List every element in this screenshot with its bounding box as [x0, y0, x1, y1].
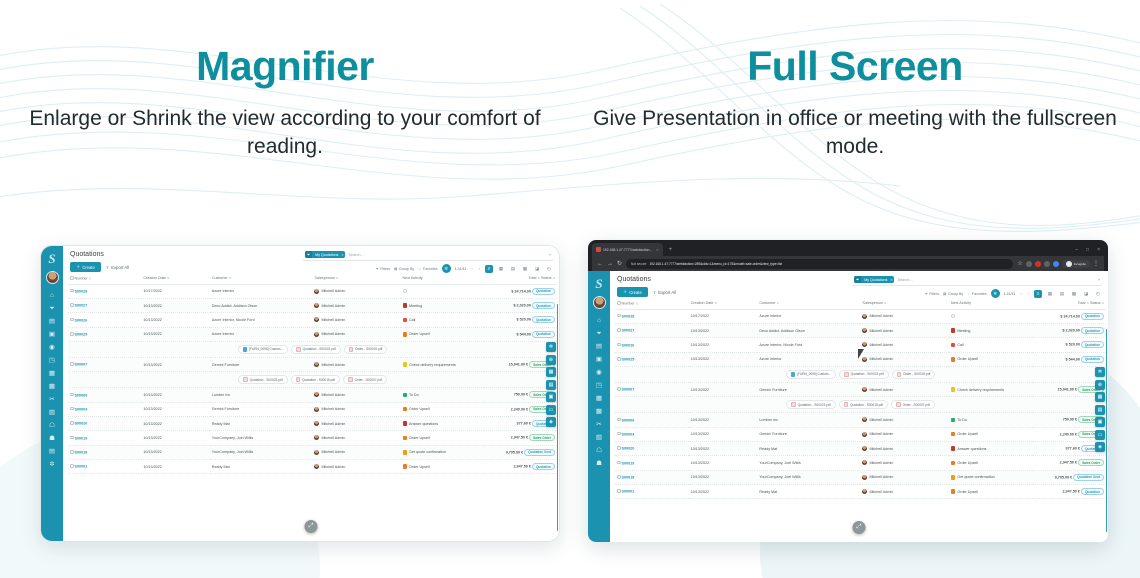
cell-salesperson: Mitchell Admin — [860, 323, 948, 337]
table-row[interactable]: S0002710/13/2022Deco Addict, Addison Ols… — [68, 298, 557, 312]
attachment-chip[interactable]: [FURN_0096] Custom... — [238, 345, 289, 354]
table-row[interactable]: S0002810/17/2022Azure InteriorMitchell A… — [68, 284, 557, 298]
avatar — [862, 342, 867, 347]
pdf-file-icon — [844, 402, 849, 407]
record-number[interactable]: S00007 — [622, 388, 635, 392]
cell-number[interactable]: S00026 — [68, 313, 141, 327]
search-facet[interactable]: ⏷ My Quotations × — [854, 276, 894, 283]
next-activity-label: Order Upsell — [957, 357, 978, 361]
cell-next-activity[interactable]: Answer questions — [949, 441, 1032, 455]
attachment-chip[interactable]: [FURN_0096] Custom... — [786, 370, 837, 379]
list-view-icon[interactable]: ≡ — [1034, 290, 1042, 298]
status-badge: Sales Order — [529, 434, 555, 441]
search-input[interactable]: Search... — [897, 278, 1095, 282]
sidebar-item-building[interactable]: ▤ — [48, 447, 57, 456]
sidebar-item-target[interactable]: ◉ — [48, 343, 57, 352]
cell-total-status: $ 520.00 Quotation — [1032, 338, 1106, 352]
next-activity-label: Order Upsell — [409, 465, 430, 469]
row-checkbox[interactable] — [617, 446, 621, 450]
col-number[interactable]: Number ⇅ — [615, 298, 689, 309]
vertical-scrollbar[interactable] — [1106, 329, 1108, 532]
cell-number[interactable]: S00025 — [68, 327, 141, 341]
cell-number[interactable]: S00006 — [615, 413, 689, 427]
table-row[interactable]: S0001910/13/2022YourCompany, Joel Willis… — [615, 456, 1106, 470]
attachment-chip[interactable]: Order - S00015.pdf — [892, 370, 936, 379]
row-checkbox[interactable] — [70, 362, 74, 366]
cell-customer: Deco Addict, Addison Olson — [210, 298, 313, 312]
next-activity: Order Upsell — [403, 436, 482, 441]
magnifier-plus-icon[interactable]: ⊕ — [546, 355, 556, 365]
table-row[interactable]: S0000610/13/2022Lumber IncMitchell Admin… — [68, 388, 557, 402]
quotations-list[interactable]: Number ⇅ Creation Date ⇅ Customer ⇅ Sale… — [610, 298, 1108, 542]
row-checkbox[interactable] — [617, 418, 621, 422]
upsell-icon — [951, 489, 956, 494]
cell-creation-date: 10/13/2022 — [141, 445, 209, 459]
cell-number[interactable]: S00002 — [615, 485, 689, 499]
table-row[interactable]: S0000210/13/2022Ready MatMitchell AdminO… — [615, 485, 1106, 499]
back-icon[interactable]: ← — [597, 261, 603, 267]
new-tab-button[interactable]: + — [666, 247, 676, 253]
create-button-label: Create — [82, 265, 95, 270]
table-row[interactable]: S0001910/13/2022YourCompany, Joel Willis… — [68, 431, 557, 445]
image-icon[interactable]: ▣ — [546, 392, 556, 402]
attachment-chip[interactable]: Order - S00015.pdf — [344, 345, 388, 354]
cell-salesperson: Mitchell Admin — [312, 327, 400, 341]
cell-next-activity[interactable]: Order Upsell — [949, 456, 1032, 470]
layers-icon: ▤ — [394, 267, 397, 271]
favorites-dropdown[interactable]: ☆ Favorites — [967, 292, 987, 296]
sort-icon: ⇅ — [884, 301, 887, 305]
filter-icon: ⏷ — [376, 267, 379, 271]
cell-creation-date: 10/13/2022 — [141, 460, 209, 474]
cell-next-activity[interactable]: Order Upsell — [401, 431, 484, 445]
cell-number[interactable]: S00020 — [615, 441, 689, 455]
cell-salesperson: Mitchell Admin — [860, 441, 948, 455]
favorites-dropdown[interactable]: ☆ Favorites — [418, 267, 438, 271]
facet-remove-icon[interactable]: × — [341, 252, 345, 258]
settings-icon[interactable]: ✲ — [546, 342, 556, 352]
browser-window: 192.168.1.47:7777/web#action... × + – □ … — [588, 240, 1108, 542]
col-salesperson[interactable]: Salesperson ⇅ — [860, 298, 948, 309]
col-creation-date[interactable]: Creation Date ⇅ — [689, 298, 758, 309]
col-next-activity[interactable]: Next Activity — [401, 273, 484, 284]
cell-number[interactable]: S00025 — [615, 352, 689, 366]
activity-view-icon[interactable]: ◴ — [545, 265, 553, 273]
sidebar-item-chart[interactable]: ◳ — [48, 356, 57, 365]
record-number[interactable]: S00018 — [75, 451, 88, 455]
graph-view-icon[interactable]: ◪ — [1082, 290, 1090, 298]
sidebar-item-user[interactable]: ☖ — [48, 421, 57, 430]
quotations-list[interactable]: Number ⇅ Creation Date ⇅ Customer ⇅ Sale… — [63, 273, 559, 541]
plus-icon: ＋ — [623, 289, 627, 295]
table-row[interactable]: S0001810/13/2022YourCompany, Joel Willis… — [68, 445, 557, 459]
row-checkbox[interactable] — [70, 421, 74, 425]
next-activity-label: Meeting — [409, 304, 422, 308]
record-number[interactable]: S00020 — [622, 447, 635, 451]
vertical-scrollbar[interactable] — [557, 304, 559, 531]
next-activity: Order Upsell — [951, 357, 1030, 362]
export-all-button[interactable]: ⇪ Export All — [106, 265, 129, 270]
cell-number[interactable]: S00004 — [615, 427, 689, 441]
printer-icon[interactable]: ▤ — [546, 380, 556, 390]
attachment-chip[interactable]: Order - S00007.pdf — [891, 400, 935, 409]
table-row[interactable]: S0000610/13/2022Lumber IncMitchell Admin… — [615, 413, 1106, 427]
chevron-down-icon[interactable]: ▾ — [1098, 277, 1100, 282]
cell-next-activity[interactable]: To Do — [401, 388, 484, 402]
reload-icon[interactable]: ↻ — [617, 261, 622, 267]
sidebar-item-target[interactable]: ◉ — [595, 368, 604, 377]
table-row[interactable]: S0001810/13/2022YourCompany, Joel Willis… — [615, 470, 1106, 484]
printer-icon[interactable]: ▤ — [1095, 405, 1105, 415]
cell-customer: Azure Interior — [210, 327, 313, 341]
attachment-chip[interactable]: Quotation - S00023.pdf — [839, 370, 888, 379]
record-number[interactable]: S00025 — [622, 358, 635, 362]
cell-next-activity[interactable]: Meeting — [949, 323, 1032, 337]
app-main-right: Quotations ＋ Create ⇪ Export All — [610, 271, 1108, 542]
cell-number[interactable]: S00002 — [68, 460, 141, 474]
row-checkbox[interactable] — [617, 489, 621, 493]
create-button[interactable]: ＋ Create — [70, 262, 101, 272]
next-activity-label: Order Upsell — [409, 436, 430, 440]
table-row[interactable]: S0002810/17/2022Azure InteriorMitchell A… — [615, 309, 1106, 323]
col-total-status[interactable]: Total ⇅ Status ⇅ — [484, 273, 557, 284]
user-avatar[interactable] — [593, 296, 606, 309]
next-activity-label: Order Upsell — [957, 432, 978, 436]
cell-number[interactable]: S00007 — [615, 382, 689, 396]
extension-icon[interactable] — [1053, 261, 1059, 267]
brand-logo-icon[interactable]: S — [44, 250, 61, 267]
pivot-view-icon[interactable]: ▩ — [521, 265, 529, 273]
sidebar-item-filter[interactable]: ⏷ — [48, 304, 57, 313]
extension-icon[interactable] — [1026, 261, 1032, 267]
cell-creation-date: 10/13/2022 — [689, 338, 758, 352]
cell-number[interactable]: S00018 — [615, 470, 689, 484]
sidebar-item-document[interactable]: ▣ — [48, 330, 57, 339]
attachment-chip-label: Order - S00007.pdf — [355, 378, 382, 382]
pivot-view-icon[interactable]: ▩ — [1070, 290, 1078, 298]
sidebar-item-box[interactable]: ▧ — [595, 433, 604, 442]
col-number[interactable]: Number ⇅ — [68, 273, 141, 284]
attachment-chip-label: [FURN_0096] Custom... — [797, 372, 831, 376]
row-checkbox[interactable] — [70, 332, 74, 336]
cell-number[interactable]: S00018 — [68, 445, 141, 459]
sidebar-item-calendar[interactable]: ▦ — [595, 394, 604, 403]
record-number[interactable]: S00018 — [622, 476, 635, 480]
row-checkbox[interactable] — [617, 432, 621, 436]
sidebar-item-people[interactable]: ☗ — [595, 459, 604, 468]
table-row[interactable]: S0000710/13/2022Gemini FurnitureMitchell… — [615, 382, 1106, 396]
salesperson-name: Mitchell Admin — [869, 329, 893, 333]
sidebar-item-grid[interactable]: ▩ — [595, 407, 604, 416]
cell-next-activity[interactable]: Order Upsell — [401, 327, 484, 341]
search-input[interactable]: Search... — [348, 253, 546, 257]
pdf-file-icon — [844, 372, 849, 377]
incognito-indicator[interactable]: Incognito — [1062, 260, 1090, 268]
sidebar-item-box[interactable]: ▧ — [48, 408, 57, 417]
calendar-view-icon[interactable]: ▤ — [1058, 290, 1066, 298]
record-number[interactable]: S00004 — [75, 407, 88, 411]
graph-view-icon[interactable]: ◪ — [533, 265, 541, 273]
cell-number[interactable]: S00004 — [68, 402, 141, 416]
row-checkbox[interactable] — [617, 314, 621, 318]
sidebar-item-people[interactable]: ☗ — [48, 434, 57, 443]
record-number[interactable]: S00027 — [75, 304, 88, 308]
cell-salesperson: Mitchell Admin — [312, 431, 400, 445]
cell-next-activity[interactable]: Check delivery requirements — [401, 357, 484, 371]
col-creation-date[interactable]: Creation Date ⇅ — [141, 273, 209, 284]
attachment-chip[interactable]: Order - S00007.pdf — [343, 375, 387, 384]
filter-icon: ⏷ — [925, 292, 928, 296]
attachment-chip[interactable]: Quotation - S00023.pdf — [238, 375, 287, 384]
note-icon[interactable]: ▭ — [546, 405, 556, 415]
salesperson-name: Mitchell Admin — [321, 407, 345, 411]
chevron-down-icon[interactable]: ▾ — [549, 252, 551, 257]
attachment-chip-label: [FURN_0096] Custom... — [249, 347, 283, 351]
table-row[interactable]: S0002510/13/2022Azure InteriorMitchell A… — [68, 327, 557, 341]
sidebar-item-filter[interactable]: ⏷ — [595, 329, 604, 338]
cell-next-activity[interactable]: Call — [401, 313, 484, 327]
note-icon[interactable]: ▭ — [1095, 430, 1105, 440]
col-status-label: Status — [1090, 301, 1100, 305]
record-number[interactable]: S00007 — [75, 363, 88, 367]
grid-icon[interactable]: ▦ — [1095, 392, 1105, 402]
select-all-checkbox[interactable] — [70, 276, 74, 280]
facet-remove-icon[interactable]: × — [890, 277, 894, 283]
table-row[interactable]: S0002010/13/2022Ready MatMitchell AdminA… — [68, 416, 557, 430]
cell-next-activity[interactable]: Get quote confirmation — [401, 445, 484, 459]
odoo-app-right: S ⌂ ⏷ ▤ ▣ ◉ ◳ ▦ ▩ ✂ ▧ ☖ ☗ Quotat — [588, 271, 1108, 542]
attachment-row: Quotation - S00023.pdfQuotation - S00015… — [615, 397, 1106, 413]
record-number[interactable]: S00002 — [75, 465, 88, 469]
select-all-checkbox[interactable] — [617, 301, 621, 305]
topbar-left: Quotations ＋ Create ⇪ Export All — [617, 276, 676, 297]
row-checkbox[interactable] — [70, 318, 74, 322]
cell-number[interactable]: S00019 — [615, 456, 689, 470]
record-number[interactable]: S00028 — [622, 314, 635, 318]
sidebar-item-settings[interactable]: ✲ — [48, 460, 57, 469]
user-avatar[interactable] — [46, 271, 59, 284]
cell-number[interactable]: S00028 — [615, 309, 689, 323]
next-activity-label: Get quote confirmation — [957, 475, 994, 479]
cell-number[interactable]: S00019 — [68, 431, 141, 445]
record-number[interactable]: S00006 — [75, 393, 88, 397]
cell-next-activity[interactable]: Get quote confirmation — [949, 470, 1032, 484]
record-number[interactable]: S00002 — [622, 490, 635, 494]
sidebar-item-grid[interactable]: ▩ — [48, 382, 57, 391]
table-row[interactable]: S0000710/13/2022Gemini FurnitureMitchell… — [68, 357, 557, 371]
record-number[interactable]: S00027 — [622, 329, 635, 333]
cell-next-activity[interactable]: Order Upsell — [401, 402, 484, 416]
cell-next-activity[interactable] — [401, 284, 484, 298]
magnifier-title: Magnifier — [0, 44, 570, 89]
create-button[interactable]: ＋ Create — [617, 287, 648, 297]
list-view-icon[interactable]: ≡ — [485, 265, 493, 273]
total-amount: 750.00 € — [1063, 418, 1077, 422]
cell-next-activity[interactable]: Order Upsell — [401, 460, 484, 474]
record-number[interactable]: S00025 — [75, 333, 88, 337]
record-number[interactable]: S00026 — [622, 343, 635, 347]
record-number[interactable]: S00019 — [622, 461, 635, 465]
sidebar-item-chart[interactable]: ◳ — [595, 381, 604, 390]
record-number[interactable]: S00020 — [75, 422, 88, 426]
image-icon[interactable]: ▣ — [1095, 417, 1105, 427]
sidebar-item-home[interactable]: ⌂ — [48, 291, 57, 300]
col-next-activity-label: Next Activity — [951, 301, 971, 305]
share-icon[interactable]: ◈ — [546, 417, 556, 427]
cell-total-status: 9,705.00 € Quotation Sent — [484, 445, 557, 459]
record-number[interactable]: S00006 — [622, 418, 635, 422]
avatar — [862, 387, 867, 392]
extension-icon[interactable] — [1035, 261, 1041, 267]
row-checkbox[interactable] — [617, 461, 621, 465]
no-activity-icon — [403, 289, 407, 293]
salesperson: Mitchell Admin — [314, 407, 398, 412]
row-checkbox[interactable] — [70, 464, 74, 468]
row-checkbox[interactable] — [617, 328, 621, 332]
fullscreen-exit-icon[interactable]: ⤢ — [305, 520, 318, 533]
record-number[interactable]: S00004 — [622, 432, 635, 436]
pager-next-button[interactable]: › — [1027, 291, 1030, 296]
window-minimize-button[interactable]: – — [1075, 247, 1078, 253]
sidebar-item-document[interactable]: ▣ — [595, 355, 604, 364]
row-checkbox[interactable] — [70, 407, 74, 411]
pager-prev-button[interactable]: ‹ — [470, 266, 473, 271]
filters-dropdown[interactable]: ⏷ Filters — [376, 267, 390, 271]
export-all-button[interactable]: ⇪ Export All — [653, 290, 676, 295]
col-salesperson[interactable]: Salesperson ⇅ — [312, 273, 400, 284]
cell-next-activity[interactable]: Order Upsell — [949, 427, 1032, 441]
sidebar-item-briefcase[interactable]: ▤ — [595, 342, 604, 351]
window-close-button[interactable]: × — [1097, 247, 1100, 253]
calendar-view-icon[interactable]: ▤ — [509, 265, 517, 273]
table-row[interactable]: S0000410/13/2022Gemini FurnitureMitchell… — [615, 427, 1106, 441]
search-bar[interactable]: ⏷ My Quotations × Search... ▾ — [852, 276, 1102, 286]
cell-next-activity[interactable]: Order Upsell — [949, 352, 1032, 366]
pdf-file-icon — [296, 347, 301, 352]
sidebar-item-scissors[interactable]: ✂ — [595, 420, 604, 429]
grid-icon[interactable]: ▦ — [546, 367, 556, 377]
cell-next-activity[interactable]: Order Upsell — [949, 485, 1032, 499]
next-activity: Order Upsell — [403, 332, 482, 337]
pager-prev-button[interactable]: ‹ — [1019, 291, 1022, 296]
cell-next-activity[interactable] — [949, 309, 1032, 323]
forward-icon[interactable]: → — [607, 261, 613, 267]
cell-next-activity[interactable]: Meeting — [401, 298, 484, 312]
magnifier-icon[interactable]: ✲ — [442, 264, 451, 273]
row-checkbox[interactable] — [617, 343, 621, 347]
sidebar-item-home[interactable]: ⌂ — [595, 316, 604, 325]
sidebar-item-calendar[interactable]: ▦ — [48, 369, 57, 378]
address-bar[interactable]: Not secure 192.168.1.47:7777/web#action=… — [626, 259, 1013, 269]
row-checkbox[interactable] — [617, 387, 621, 391]
sidebar-item-user[interactable]: ☖ — [595, 446, 604, 455]
close-icon[interactable]: × — [656, 247, 658, 252]
search-facet[interactable]: ⏷ My Quotations × — [305, 251, 345, 258]
attachment-chip[interactable]: Quotation - S00023.pdf — [291, 345, 340, 354]
security-label: Not secure — [631, 262, 646, 266]
cell-number[interactable]: S00007 — [68, 357, 141, 371]
row-checkbox[interactable] — [70, 289, 74, 293]
table-row[interactable]: S0002610/13/2022Azure Interior, Nicole F… — [68, 313, 557, 327]
window-maximize-button[interactable]: □ — [1086, 247, 1089, 253]
groupby-dropdown[interactable]: ▤ Group By — [394, 267, 414, 271]
brand-logo-icon[interactable]: S — [591, 275, 608, 292]
sidebar-item-scissors[interactable]: ✂ — [48, 395, 57, 404]
extension-icon[interactable] — [1044, 261, 1050, 267]
row-checkbox[interactable] — [70, 436, 74, 440]
cell-number[interactable]: S00028 — [68, 284, 141, 298]
bookmark-star-icon[interactable]: ☆ — [1017, 261, 1022, 267]
activity-view-icon[interactable]: ◴ — [1094, 290, 1102, 298]
kanban-view-icon[interactable]: ▦ — [497, 265, 505, 273]
magnifier-icon[interactable]: ✲ — [991, 289, 1000, 298]
attachment-chip[interactable]: Quotation - S00015.pdf — [291, 375, 340, 384]
record-number[interactable]: S00019 — [75, 436, 88, 440]
cell-number[interactable]: S00027 — [615, 323, 689, 337]
total-amount: 15,041.00 € — [509, 363, 528, 367]
attachment-chip[interactable]: Quotation - S00023.pdf — [786, 400, 835, 409]
filters-dropdown[interactable]: ⏷ Filters — [925, 292, 939, 296]
cell-creation-date: 10/13/2022 — [689, 382, 758, 396]
window-controls: – □ × — [1075, 247, 1104, 253]
browser-menu-icon[interactable]: ⋮ — [1093, 261, 1099, 267]
cell-number[interactable]: S00027 — [68, 298, 141, 312]
salesperson: Mitchell Admin — [862, 460, 946, 465]
table-row[interactable]: S0002010/13/2022Ready MatMitchell AdminA… — [615, 441, 1106, 455]
share-icon[interactable]: ◈ — [1095, 442, 1105, 452]
kanban-view-icon[interactable]: ▦ — [1046, 290, 1054, 298]
col-next-activity[interactable]: Next Activity — [949, 298, 1032, 309]
record-number[interactable]: S00028 — [75, 289, 88, 293]
sidebar-item-briefcase[interactable]: ▤ — [48, 317, 57, 326]
favicon-icon — [596, 247, 601, 252]
cell-number[interactable]: S00006 — [68, 388, 141, 402]
groupby-dropdown[interactable]: ▤ Group By — [943, 292, 963, 296]
fullscreen-exit-icon[interactable]: ⤢ — [853, 521, 866, 534]
record-number[interactable]: S00026 — [75, 318, 88, 322]
table-row[interactable]: S0000210/13/2022Ready MatMitchell AdminO… — [68, 460, 557, 474]
table-row[interactable]: S0000410/13/2022Gemini FurnitureMitchell… — [68, 402, 557, 416]
cell-number[interactable]: S00020 — [68, 416, 141, 430]
cell-customer: Gemini Furniture — [757, 382, 860, 396]
filters-label: Filters — [929, 292, 939, 296]
attachment-chip-list: Quotation - S00023.pdfQuotation - S00015… — [617, 400, 1104, 409]
row-checkbox[interactable] — [70, 303, 74, 307]
row-checkbox[interactable] — [70, 393, 74, 397]
cell-next-activity[interactable]: Call — [949, 338, 1032, 352]
magnifier-plus-icon[interactable]: ⊕ — [1095, 380, 1105, 390]
cell-customer: Gemini Furniture — [210, 357, 313, 371]
row-checkbox[interactable] — [617, 357, 621, 361]
total-amount: $ 544.00 — [1066, 357, 1080, 361]
table-row[interactable]: S0002710/13/2022Deco Addict, Addison Ols… — [615, 323, 1106, 337]
settings-icon[interactable]: ✲ — [1095, 367, 1105, 377]
cell-creation-date: 10/13/2022 — [141, 327, 209, 341]
cell-number[interactable]: S00026 — [615, 338, 689, 352]
col-customer[interactable]: Customer ⇅ — [210, 273, 313, 284]
cell-next-activity[interactable]: To Do — [949, 413, 1032, 427]
cell-next-activity[interactable]: Answer questions — [401, 416, 484, 430]
pager-next-button[interactable]: › — [478, 266, 481, 271]
search-bar[interactable]: ⏷ My Quotations × Search... ▾ — [303, 251, 553, 261]
row-checkbox[interactable] — [617, 475, 621, 479]
cell-next-activity[interactable]: Check delivery requirements — [949, 382, 1032, 396]
browser-tab[interactable]: 192.168.1.47:7777/web#action... × — [592, 243, 663, 256]
attachment-chip[interactable]: Quotation - S00015.pdf — [839, 400, 888, 409]
row-checkbox[interactable] — [70, 450, 74, 454]
col-total-status[interactable]: Total ⇅ Status ⇅ — [1032, 298, 1106, 309]
col-customer[interactable]: Customer ⇅ — [757, 298, 860, 309]
